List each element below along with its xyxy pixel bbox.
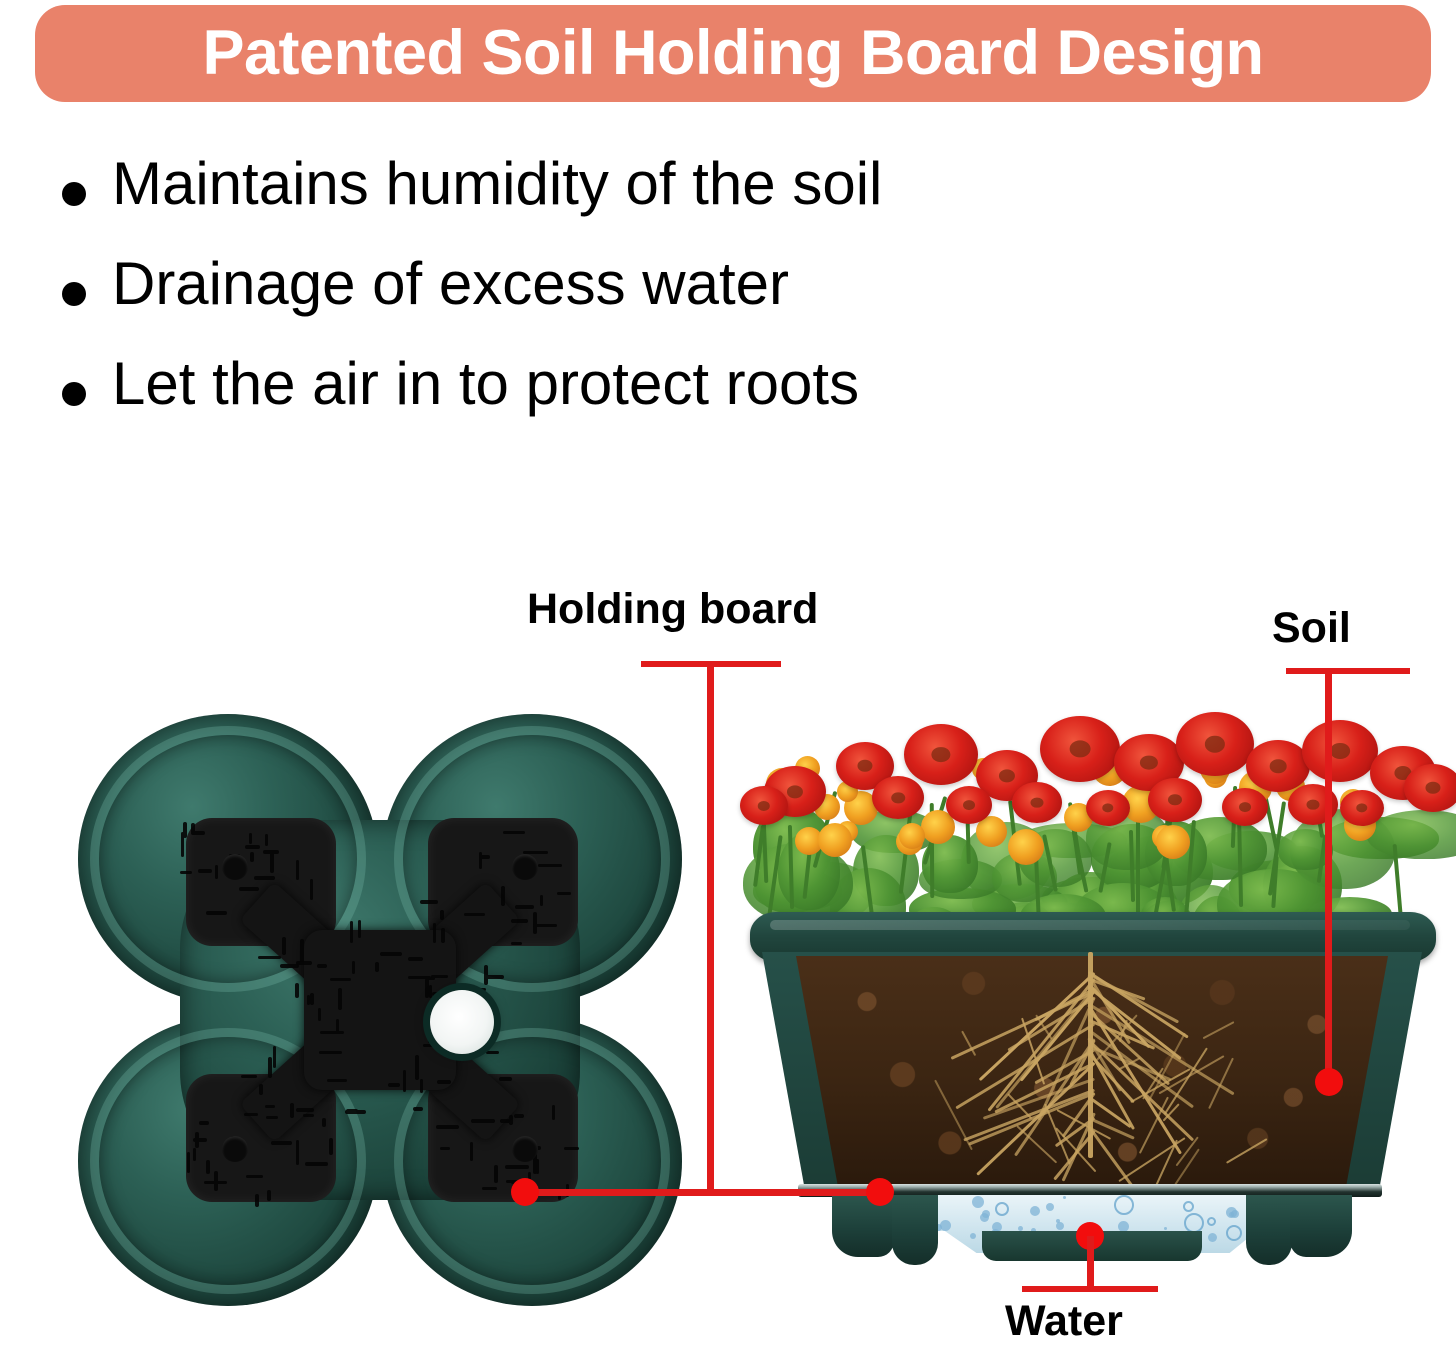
- water-bubble-ring: [1183, 1201, 1194, 1212]
- holding-board-plate: [178, 818, 582, 1202]
- board-slot: [501, 886, 505, 907]
- board-slot: [239, 887, 259, 891]
- water-bubble: [1056, 1219, 1060, 1223]
- board-slot: [199, 1121, 209, 1125]
- reservoir-base-lobe: [892, 1195, 938, 1265]
- board-slot: [482, 1187, 498, 1191]
- board-slot: [259, 1084, 263, 1095]
- board-slot: [303, 1114, 314, 1118]
- board-slot: [413, 1107, 422, 1111]
- board-slot: [204, 1181, 227, 1185]
- flower-mum: [1246, 740, 1310, 792]
- board-slot: [265, 1105, 275, 1109]
- board-slot: [471, 1119, 495, 1123]
- board-slot: [509, 1115, 513, 1125]
- flower-mum: [904, 724, 978, 785]
- list-item: Drainage of excess water: [62, 252, 1182, 352]
- soil-leader-tbar: [1286, 668, 1410, 674]
- board-slot: [267, 1190, 271, 1201]
- board-slot: [244, 1113, 258, 1117]
- board-slot: [503, 831, 525, 835]
- board-slot: [511, 919, 529, 923]
- bullet-icon: [62, 382, 86, 406]
- board-slot: [515, 905, 534, 909]
- board-slot: [403, 1070, 407, 1092]
- board-slot: [290, 1103, 294, 1117]
- board-slot: [180, 871, 193, 875]
- board-slot: [271, 1141, 292, 1145]
- board-slot: [388, 1083, 400, 1087]
- board-slot: [215, 865, 219, 879]
- callout-label-water: Water: [1005, 1300, 1123, 1343]
- board-slot: [249, 833, 253, 843]
- board-slot: [350, 921, 354, 943]
- board-slot: [296, 961, 312, 965]
- list-item: Maintains humidity of the soil: [62, 152, 1182, 252]
- holding-board-leader-line: [707, 661, 714, 1194]
- board-slot: [431, 975, 448, 979]
- flower-mum: [1404, 764, 1456, 812]
- board-slot: [440, 1147, 450, 1151]
- board-eyelet: [222, 1136, 248, 1162]
- board-slot: [320, 1031, 345, 1035]
- board-slot: [479, 852, 483, 869]
- feature-list: Maintains humidity of the soil Drainage …: [62, 152, 1182, 452]
- soil-leader-line: [1325, 668, 1332, 1080]
- board-slot: [470, 1142, 474, 1161]
- root-fiber: [1174, 1148, 1200, 1185]
- board-slot: [437, 1080, 451, 1084]
- flower-mum: [1086, 790, 1130, 826]
- water-bubble: [943, 1240, 954, 1251]
- flower-mum: [1148, 778, 1202, 822]
- board-slot: [375, 962, 379, 972]
- board-slot: [317, 964, 326, 968]
- board-slot: [295, 983, 299, 999]
- water-leader-tbar: [1022, 1286, 1158, 1292]
- board-slot: [241, 1075, 257, 1079]
- board-slot: [191, 831, 205, 835]
- board-eyelet: [512, 854, 538, 880]
- board-slot: [352, 961, 356, 974]
- board-slot: [258, 956, 282, 960]
- board-slot: [552, 1105, 556, 1120]
- water-bubble: [1046, 1203, 1054, 1211]
- board-slot: [540, 895, 544, 906]
- board-slot: [254, 876, 275, 880]
- board-slot: [557, 892, 572, 896]
- board-slot: [327, 1079, 346, 1083]
- water-bubble: [1164, 1227, 1167, 1230]
- board-slot: [505, 1165, 529, 1169]
- water-bubble: [982, 1210, 990, 1218]
- flower-mum: [1340, 790, 1384, 826]
- flower-mum: [740, 786, 788, 825]
- board-slot: [514, 1114, 524, 1118]
- board-slot: [206, 911, 227, 915]
- board-slot: [536, 1159, 540, 1175]
- board-slot: [282, 937, 286, 955]
- board-slot: [441, 928, 445, 943]
- board-slot: [436, 1125, 459, 1129]
- root-branch: [987, 978, 1095, 1112]
- root-fiber: [1226, 1138, 1268, 1164]
- board-slot: [408, 976, 431, 980]
- flower-mum: [1222, 788, 1268, 826]
- board-slot: [538, 864, 562, 868]
- board-slot: [273, 1046, 277, 1069]
- board-slot: [345, 1110, 366, 1114]
- board-slot: [319, 1051, 342, 1055]
- flower-mum: [1176, 712, 1254, 776]
- feature-label: Let the air in to protect roots: [112, 352, 859, 415]
- board-slot: [380, 952, 402, 956]
- root-fiber: [1203, 1021, 1235, 1039]
- flower-bud: [899, 823, 925, 849]
- board-slot: [296, 1140, 300, 1165]
- root-system: [796, 952, 1388, 1184]
- board-slot: [246, 1175, 263, 1179]
- flower-mum: [1012, 782, 1062, 823]
- reservoir-base-lobe: [1246, 1195, 1292, 1265]
- board-slot: [564, 1147, 579, 1151]
- board-slot: [268, 1057, 272, 1077]
- feature-label: Maintains humidity of the soil: [112, 152, 882, 215]
- board-slot: [265, 834, 269, 846]
- board-slot: [250, 852, 254, 862]
- board-slot: [486, 1051, 499, 1055]
- board-slot: [193, 1148, 197, 1161]
- holding-board-leader-span: [525, 1189, 885, 1196]
- board-slot: [280, 964, 300, 968]
- water-bubble: [1063, 1196, 1066, 1199]
- board-slot: [408, 957, 423, 961]
- water-leader-line: [1087, 1236, 1094, 1292]
- flower-canopy: [740, 690, 1440, 930]
- board-slot: [511, 942, 522, 946]
- board-slot: [420, 900, 438, 904]
- board-eyelet: [512, 1136, 538, 1162]
- water-bubble: [1056, 1222, 1064, 1230]
- board-slot: [329, 1138, 333, 1155]
- board-slot: [198, 869, 212, 873]
- board-slot: [263, 850, 279, 854]
- pot-rim-highlight: [770, 920, 1410, 930]
- board-slot: [187, 1152, 191, 1173]
- planter-top-view-image: [60, 700, 700, 1320]
- water-bubble: [940, 1220, 951, 1231]
- board-slot: [300, 939, 304, 962]
- board-slot: [533, 924, 557, 928]
- board-slot: [310, 993, 314, 1005]
- board-slot: [464, 913, 485, 917]
- board-slot: [245, 845, 260, 849]
- board-slot: [206, 1160, 210, 1174]
- feature-label: Drainage of excess water: [112, 252, 789, 315]
- board-slot: [296, 860, 300, 880]
- board-slot: [193, 1138, 207, 1142]
- water-bubble-ring: [1114, 1195, 1134, 1215]
- board-slot: [440, 910, 444, 920]
- reservoir-base-lobe: [1290, 1195, 1352, 1257]
- water-bubble: [970, 1233, 976, 1239]
- holding-board-marker-left: [511, 1178, 539, 1206]
- flower-mum: [1040, 716, 1120, 782]
- board-slot: [494, 1165, 498, 1184]
- holding-board-marker-right: [866, 1178, 894, 1206]
- board-slot: [425, 979, 429, 998]
- soil-marker: [1315, 1068, 1343, 1096]
- board-slot: [266, 1116, 278, 1120]
- water-bubble: [1226, 1207, 1237, 1218]
- flower-bud: [1156, 825, 1190, 859]
- board-slot: [183, 822, 187, 838]
- water-bubble: [972, 1196, 984, 1208]
- board-eyelet: [222, 854, 248, 880]
- water-bubble-ring: [1184, 1213, 1204, 1233]
- drainage-hole: [430, 990, 494, 1054]
- flower-mum: [1302, 720, 1378, 782]
- title-banner: Patented Soil Holding Board Design: [35, 5, 1431, 102]
- board-slot: [296, 1108, 314, 1112]
- root-fiber: [934, 1080, 973, 1151]
- board-slot: [423, 1044, 439, 1048]
- stem: [1136, 813, 1140, 915]
- water-bubble-ring: [995, 1202, 1009, 1216]
- board-slot: [330, 978, 352, 982]
- board-slot: [429, 985, 433, 997]
- board-slot: [499, 1077, 512, 1081]
- bullet-icon: [62, 182, 86, 206]
- flower-bud: [818, 823, 852, 857]
- board-slot: [322, 1118, 326, 1127]
- water-bubble: [1208, 1233, 1217, 1242]
- pot-cross-section-image: [740, 690, 1440, 1270]
- board-slot: [485, 975, 504, 979]
- callout-label-soil: Soil: [1272, 607, 1351, 650]
- board-slot: [433, 923, 437, 943]
- board-slot: [415, 1055, 419, 1080]
- board-slot: [420, 1079, 424, 1094]
- root-fiber: [1208, 1058, 1234, 1109]
- page-title: Patented Soil Holding Board Design: [202, 22, 1263, 85]
- callout-label-holding-board: Holding board: [527, 588, 818, 631]
- flower-mum: [872, 776, 924, 819]
- board-slot: [255, 1194, 259, 1207]
- board-slot: [338, 988, 342, 1010]
- bullet-icon: [62, 282, 86, 306]
- list-item: Let the air in to protect roots: [62, 352, 1182, 452]
- board-slot: [358, 920, 362, 938]
- water-bubble-ring: [1226, 1225, 1242, 1241]
- board-slot: [318, 1008, 322, 1021]
- water-bubble-ring: [1207, 1217, 1216, 1226]
- board-slot: [305, 1162, 328, 1166]
- board-slot: [270, 851, 274, 873]
- board-slot: [310, 879, 314, 901]
- flower-bud: [1008, 829, 1044, 865]
- flower-mum: [946, 786, 992, 824]
- water-bubble: [1030, 1206, 1040, 1216]
